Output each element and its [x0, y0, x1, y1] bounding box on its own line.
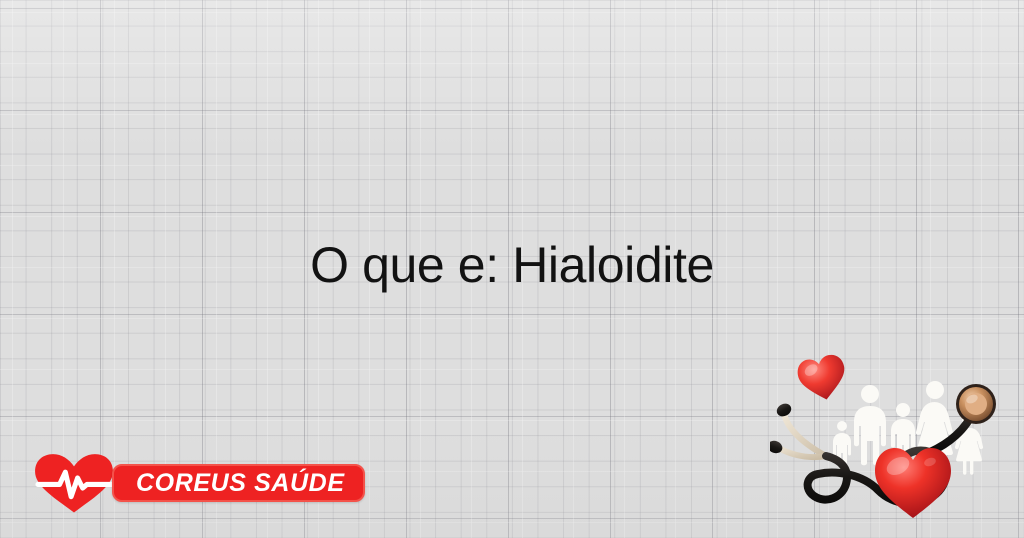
slide-canvas: O que e: Hialoidite COREUS SAÚDE [0, 0, 1024, 538]
heart-icon-large [875, 448, 951, 518]
heart-icon-small [795, 352, 850, 404]
heart-pulse-icon [30, 452, 118, 514]
stethoscope-chest-piece [956, 384, 996, 424]
family-health-stethoscope-illustration [770, 348, 1020, 538]
brand-logo: COREUS SAÚDE [30, 452, 365, 514]
brand-badge: COREUS SAÚDE [112, 464, 365, 502]
page-title: O que e: Hialoidite [0, 238, 1024, 293]
brand-badge-label: COREUS SAÚDE [136, 471, 345, 496]
